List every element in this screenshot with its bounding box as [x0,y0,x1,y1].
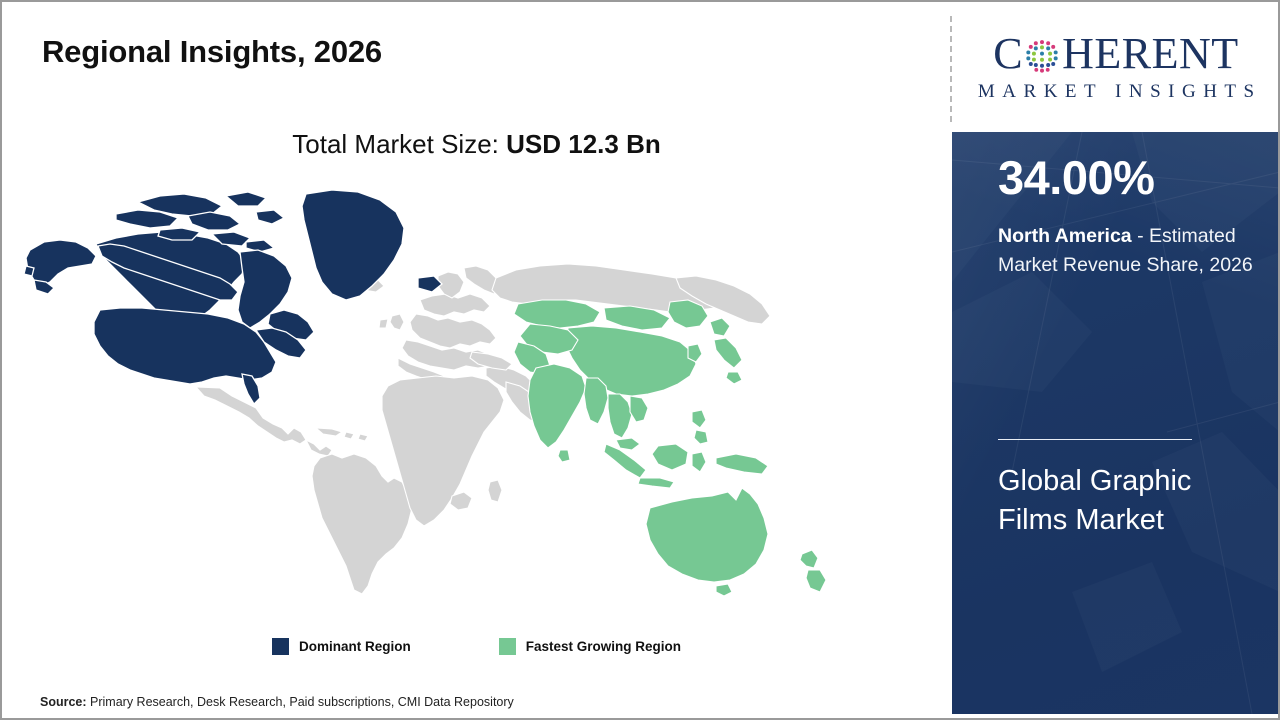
total-market-size-label: Total Market Size: [292,129,506,159]
logo-wordmark: C [993,32,1238,76]
source-note: Source: Primary Research, Desk Research,… [40,695,514,709]
map-dominant-region [24,190,442,404]
stat-side-panel: 34.00% North America - Estimated Market … [952,132,1280,714]
logo-letter-c: C [993,32,1023,76]
panel-background-texture [952,132,1280,714]
legend-label-dominant: Dominant Region [299,639,411,654]
legend-label-fastest-growing: Fastest Growing Region [526,639,681,654]
total-market-size-value: USD 12.3 Bn [506,129,661,159]
logo-word-herent: HERENT [1062,32,1239,76]
page-title: Regional Insights, 2026 [42,34,382,70]
legend-item-dominant: Dominant Region [272,638,411,655]
world-map [20,182,920,622]
map-fastest-growing-region [514,300,826,596]
stat-description: North America - Estimated Market Revenue… [998,222,1266,280]
map-legend: Dominant Region Fastest Growing Region [2,638,951,655]
logo-tagline: MARKET INSIGHTS [970,81,1261,103]
navy-square-icon [272,638,289,655]
source-text: Primary Research, Desk Research, Paid su… [87,695,514,709]
infographic-slide: Regional Insights, 2026 Total Market Siz… [0,0,1280,720]
source-label: Source: [40,695,87,709]
market-name: Global Graphic Films Market [998,462,1248,540]
main-content-area: Regional Insights, 2026 Total Market Siz… [2,2,951,718]
panel-divider [998,439,1192,440]
brand-logo: C [952,2,1280,132]
stat-percentage: 34.00% [998,154,1154,201]
stat-region-name: North America [998,225,1132,247]
globe-dots-icon [1023,36,1061,74]
legend-item-fastest-growing: Fastest Growing Region [499,638,681,655]
green-square-icon [499,638,516,655]
total-market-size: Total Market Size: USD 12.3 Bn [2,129,951,160]
